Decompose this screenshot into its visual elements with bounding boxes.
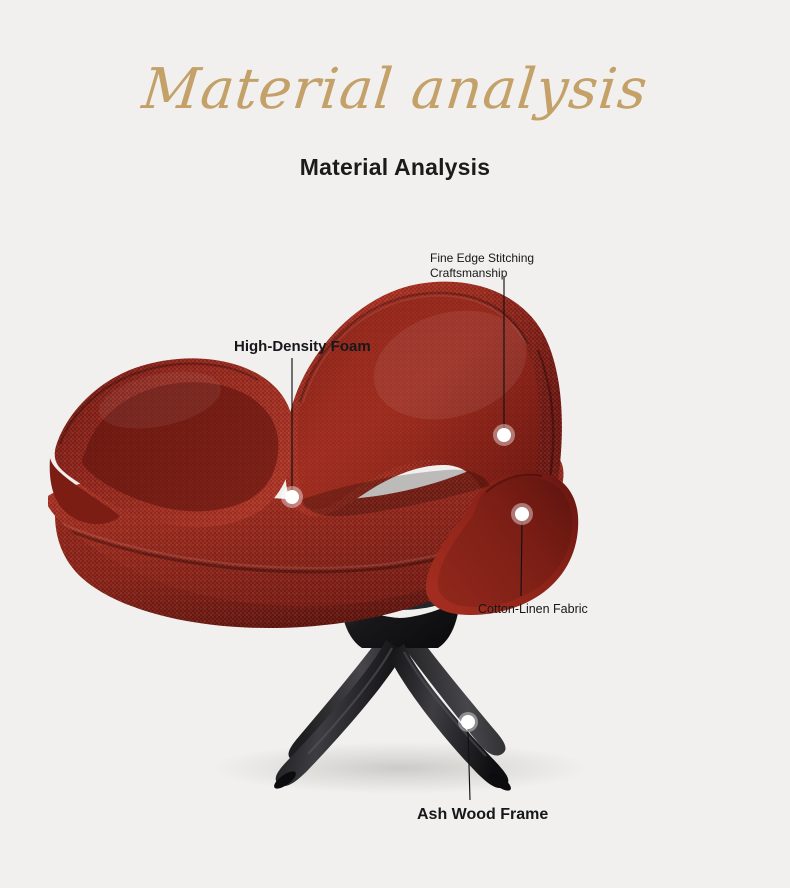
page-script-title: Material analysis [0,62,790,118]
armchair-illustration [0,200,790,820]
callout-label-stitching: Fine Edge Stitching Craftsmanship [430,251,534,282]
callout-label-frame: Ash Wood Frame [417,805,548,825]
product-image-armchair [0,200,790,820]
page-title: Material Analysis [0,154,790,182]
callout-label-fabric: Cotton-Linen Fabric [478,601,588,617]
floor-shadow [210,742,590,794]
callout-label-foam: High-Density Foam [234,337,371,356]
material-analysis-page: Material analysis Material Analysis [0,0,790,888]
